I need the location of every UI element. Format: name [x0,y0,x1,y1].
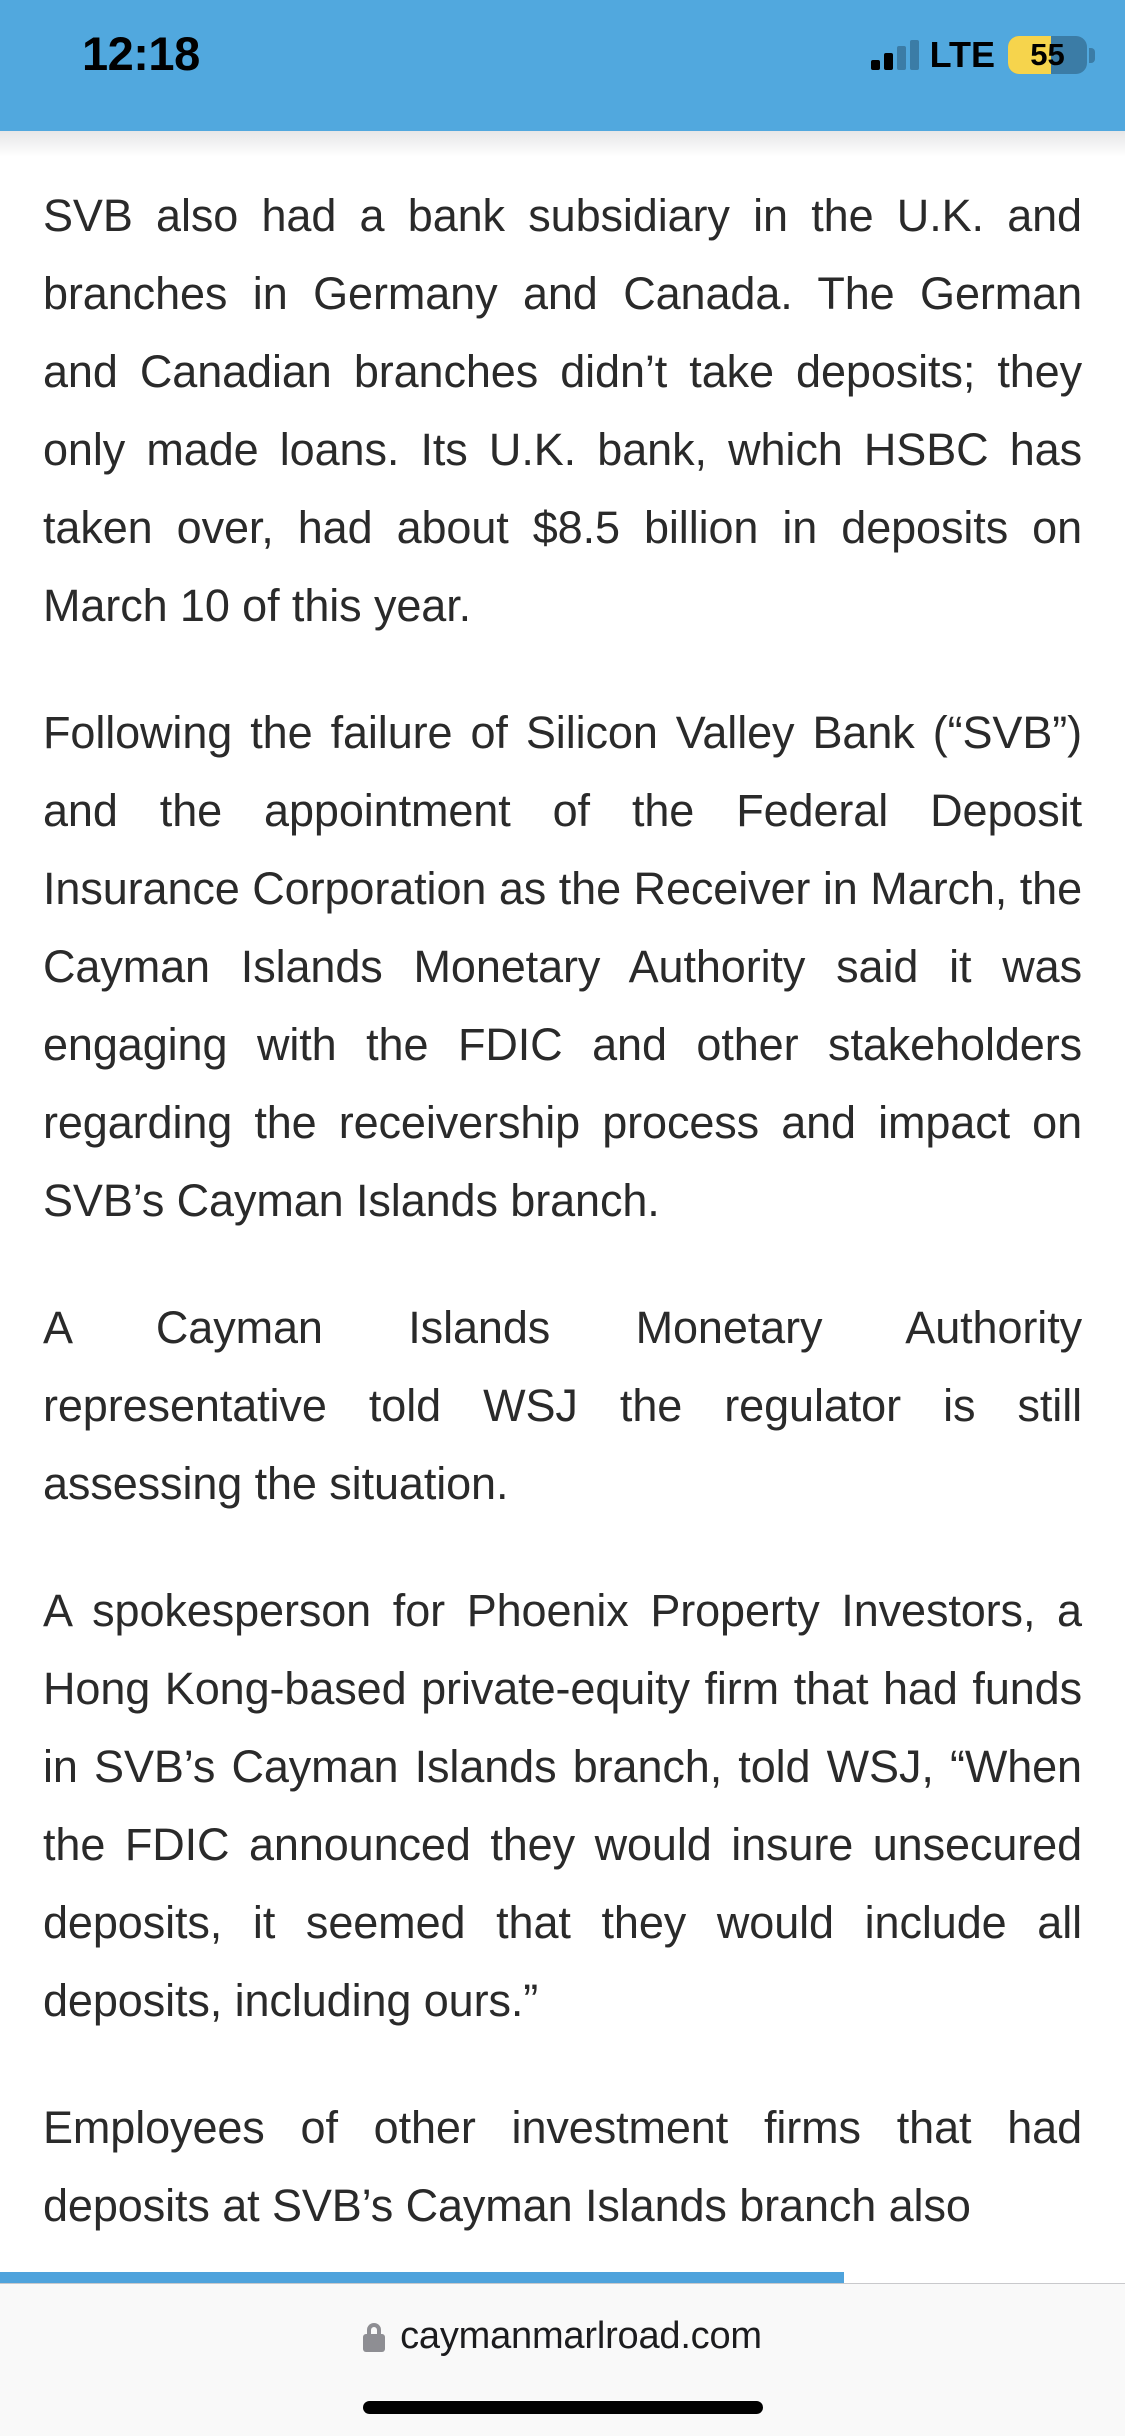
browser-bottom-toolbar: caymanmarlroad.com [0,2283,1125,2436]
battery-icon: 55 [1008,36,1087,74]
status-bar-clock: 12:18 [82,28,200,80]
battery-cap [1089,48,1095,63]
article-paragraph: A Cayman Islands Monetary Authority repr… [43,1289,1082,1523]
address-bar[interactable]: caymanmarlroad.com [0,2284,1125,2388]
network-type-label: LTE [930,37,995,73]
phone-screen: 12:18 LTE 55 SVB also had a bank subsidi… [0,0,1125,2436]
lock-icon [363,2323,385,2352]
status-bar: 12:18 LTE 55 [0,0,1125,131]
article-paragraph: A spokesperson for Phoenix Property Inve… [43,1572,1082,2040]
article-paragraph: SVB also had a bank subsidiary in the U.… [43,177,1082,645]
home-indicator[interactable] [363,2401,763,2414]
page-load-progress-bar [0,2272,1125,2283]
battery-level-label: 55 [1008,36,1087,74]
web-page-content[interactable]: SVB also had a bank subsidiary in the U.… [0,131,1125,2283]
article-paragraph: Following the failure of Silicon Valley … [43,694,1082,1240]
article-paragraph: Employees of other investment firms that… [43,2089,1082,2245]
page-load-progress-fill [0,2272,844,2283]
article-body: SVB also had a bank subsidiary in the U.… [0,131,1125,2245]
status-bar-indicators: LTE 55 [871,32,1087,78]
address-bar-url: caymanmarlroad.com [400,2315,762,2357]
cellular-signal-icon [871,40,919,70]
